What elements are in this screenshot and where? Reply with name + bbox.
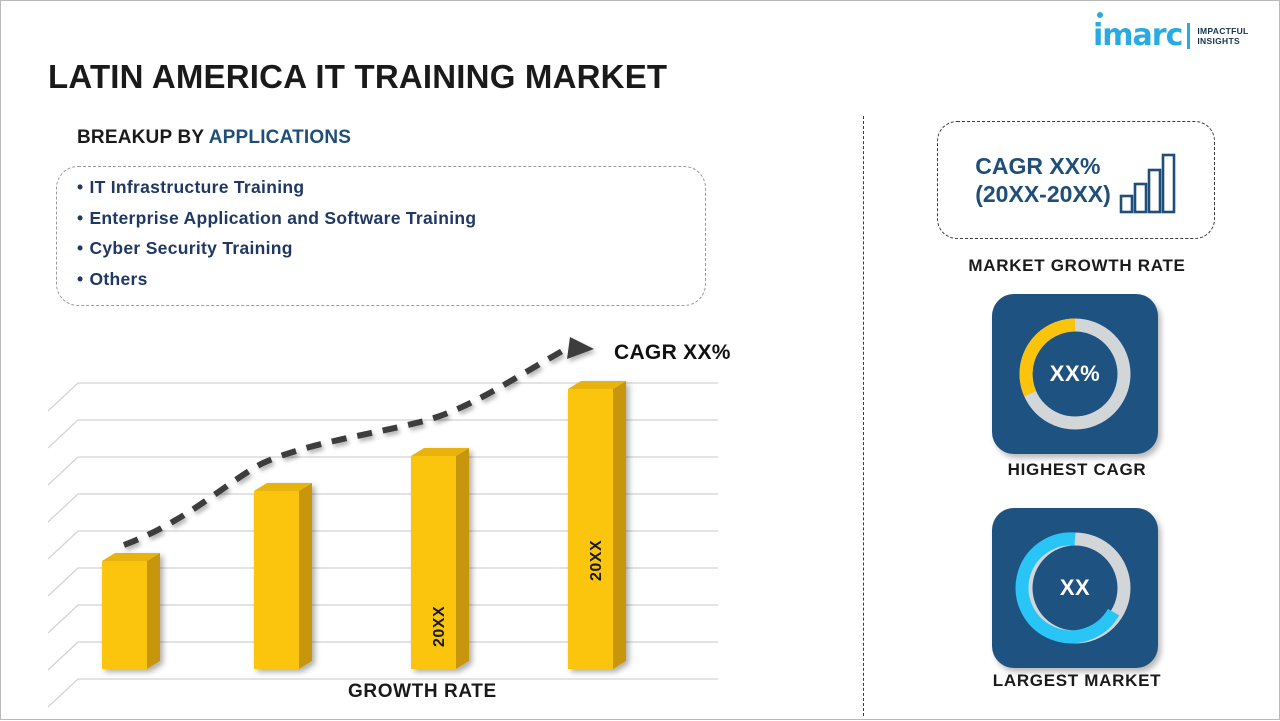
logo-tagline-line1: IMPACTFUL xyxy=(1197,26,1248,36)
largest-market-card: XX xyxy=(992,508,1158,668)
bar-chart-icon xyxy=(1119,152,1177,214)
cagr-line1: CAGR XX% xyxy=(975,152,1111,180)
cagr-text: CAGR XX% (20XX-20XX) xyxy=(975,152,1111,208)
chart-svg xyxy=(48,331,748,721)
list-item: •IT Infrastructure Training xyxy=(77,179,705,197)
applications-box: •IT Infrastructure Training •Enterprise … xyxy=(56,166,706,306)
highest-cagr-caption: HIGHEST CAGR xyxy=(864,460,1280,480)
imarc-logo: imarc IMPACTFUL INSIGHTS xyxy=(1093,15,1265,57)
logo-tagline-line2: INSIGHTS xyxy=(1197,36,1248,46)
panel-divider xyxy=(863,116,864,716)
subtitle-prefix: BREAKUP BY xyxy=(77,127,209,148)
list-item: •Cyber Security Training xyxy=(77,240,705,258)
logo-wordmark-wrap: imarc xyxy=(1093,21,1182,51)
growth-bar-chart: 20XX 20XX xyxy=(48,331,748,721)
subtitle-accent: APPLICATIONS xyxy=(209,127,351,148)
largest-market-value: XX xyxy=(992,575,1158,601)
bullet-icon: • xyxy=(77,269,83,289)
page-title: LATIN AMERICA IT TRAINING MARKET xyxy=(48,58,667,96)
largest-market-caption: LARGEST MARKET xyxy=(864,671,1280,691)
cagr-line2: (20XX-20XX) xyxy=(975,180,1111,208)
bar-3-label: 20XX xyxy=(431,606,449,647)
bar-1 xyxy=(102,553,160,669)
highest-cagr-card: XX% xyxy=(992,294,1158,454)
list-item-label: Cyber Security Training xyxy=(89,238,292,258)
logo-dot-icon xyxy=(1097,12,1103,18)
bullet-icon: • xyxy=(77,177,83,197)
page-subtitle: BREAKUP BY APPLICATIONS xyxy=(77,127,351,149)
list-item-label: Enterprise Application and Software Trai… xyxy=(89,208,476,228)
market-growth-rate-label: MARKET GROWTH RATE xyxy=(864,256,1280,276)
chart-x-axis-label: GROWTH RATE xyxy=(348,681,497,703)
cagr-box: CAGR XX% (20XX-20XX) xyxy=(937,121,1215,239)
logo-divider xyxy=(1187,23,1190,49)
trend-arrow-icon xyxy=(567,337,594,359)
trend-line xyxy=(124,337,594,545)
bullet-icon: • xyxy=(77,238,83,258)
list-item-label: Others xyxy=(89,269,147,289)
list-item: •Others xyxy=(77,271,705,289)
chart-cagr-annotation: CAGR XX% xyxy=(614,341,731,365)
infographic-page: imarc IMPACTFUL INSIGHTS LATIN AMERICA I… xyxy=(0,0,1280,720)
list-item-label: IT Infrastructure Training xyxy=(89,177,304,197)
bullet-icon: • xyxy=(77,208,83,228)
list-item: •Enterprise Application and Software Tra… xyxy=(77,210,705,228)
bar-2 xyxy=(254,483,312,669)
logo-wordmark: imarc xyxy=(1093,18,1182,53)
highest-cagr-value: XX% xyxy=(992,361,1158,387)
bar-4-label: 20XX xyxy=(588,540,606,581)
logo-tagline: IMPACTFUL INSIGHTS xyxy=(1197,26,1248,46)
bar-4 xyxy=(568,381,626,669)
